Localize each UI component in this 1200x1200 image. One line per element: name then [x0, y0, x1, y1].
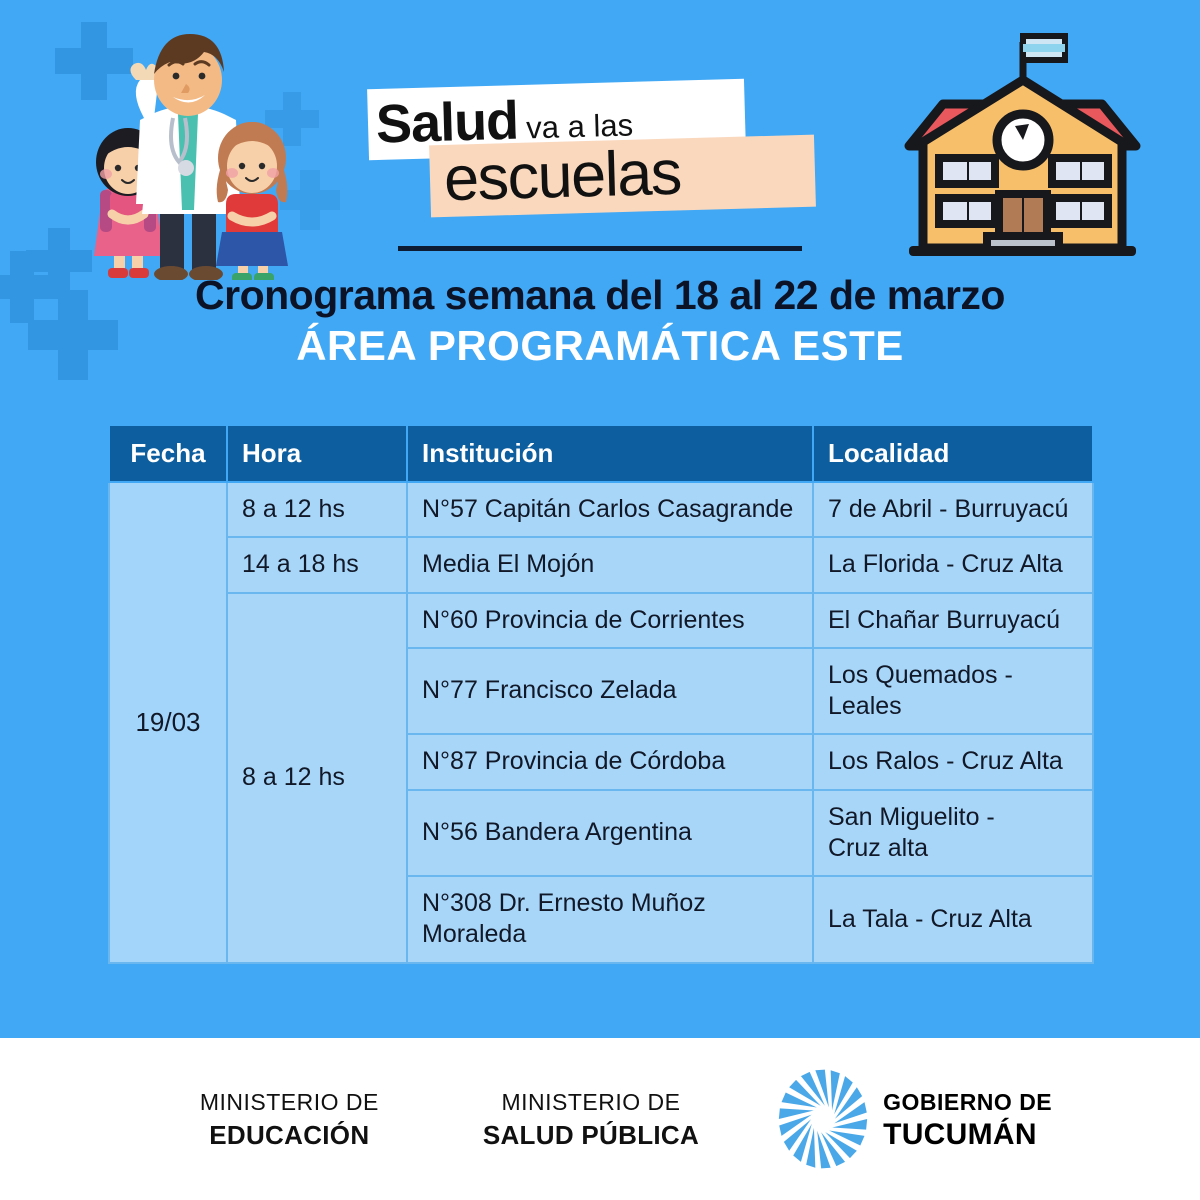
- educacion-top-label: MINISTERIO DE: [200, 1086, 379, 1118]
- logo-ministerio-educacion: MINISTERIO DE EDUCACIÓN: [200, 1086, 379, 1152]
- cell-institucion: N°57 Capitán Carlos Casagrande: [407, 482, 813, 537]
- divider-rule: [398, 246, 802, 251]
- school-building-icon: [895, 22, 1150, 262]
- cell-localidad: Los Ralos - Cruz Alta: [813, 734, 1093, 789]
- cell-institucion: N°77 Francisco Zelada: [407, 648, 813, 735]
- table-row: 14 a 18 hsMedia El MojónLa Florida - Cru…: [109, 537, 1093, 592]
- table-row: 19/038 a 12 hsN°57 Capitán Carlos Casagr…: [109, 482, 1093, 537]
- column-header-fecha: Fecha: [109, 425, 227, 482]
- cell-localidad: La Florida - Cruz Alta: [813, 537, 1093, 592]
- brand-logo: Salud va a las escuelas: [368, 78, 828, 238]
- cell-institucion: N°87 Provincia de Córdoba: [407, 734, 813, 789]
- schedule-table-body: 19/038 a 12 hsN°57 Capitán Carlos Casagr…: [109, 482, 1093, 963]
- educacion-bottom-label: EDUCACIÓN: [200, 1118, 379, 1152]
- cell-hora: 8 a 12 hs: [227, 593, 407, 963]
- cell-localidad: El Chañar Burruyacú: [813, 593, 1093, 648]
- cell-fecha: 19/03: [109, 482, 227, 963]
- cell-institucion: Media El Mojón: [407, 537, 813, 592]
- gobierno-bottom-label: TUCUMÁN: [883, 1118, 1052, 1152]
- salud-bottom-label: SALUD PÚBLICA: [483, 1118, 699, 1152]
- salud-top-label: MINISTERIO DE: [483, 1086, 699, 1118]
- cell-localidad: Los Quemados - Leales: [813, 648, 1093, 735]
- page-subtitle: Cronograma semana del 18 al 22 de marzo: [0, 272, 1200, 319]
- cell-institucion: N°56 Bandera Argentina: [407, 790, 813, 877]
- cell-localidad: 7 de Abril - Burruyacú: [813, 482, 1093, 537]
- logo-ministerio-salud: MINISTERIO DE SALUD PÚBLICA: [483, 1086, 699, 1152]
- gobierno-top-label: GOBIERNO DE: [883, 1086, 1052, 1118]
- logo-gobierno-tucuman: GOBIERNO DE TUCUMÁN: [777, 1067, 1052, 1171]
- table-row: 8 a 12 hsN°60 Provincia de CorrientesEl …: [109, 593, 1093, 648]
- cell-localidad: San Miguelito -Cruz alta: [813, 790, 1093, 877]
- column-header-institucion: Institución: [407, 425, 813, 482]
- poster-root: Salud va a las escuelas: [0, 0, 1200, 1200]
- hero-section: Salud va a las escuelas: [0, 0, 1200, 1038]
- cell-institucion: N°308 Dr. Ernesto MuñozMoraleda: [407, 876, 813, 963]
- footer-logos: MINISTERIO DE EDUCACIÓN MINISTERIO DE SA…: [0, 1038, 1200, 1200]
- schedule-table-wrapper: Fecha Hora Institución Localidad 19/038 …: [108, 424, 1092, 964]
- doctor-with-two-children-illustration: [40, 18, 340, 280]
- page-title: ÁREA PROGRAMÁTICA ESTE: [0, 322, 1200, 370]
- table-header-row: Fecha Hora Institución Localidad: [109, 425, 1093, 482]
- cell-hora: 14 a 18 hs: [227, 537, 407, 592]
- logo-escuelas-text: escuelas: [443, 133, 825, 216]
- cell-institucion: N°60 Provincia de Corrientes: [407, 593, 813, 648]
- schedule-table: Fecha Hora Institución Localidad 19/038 …: [108, 424, 1094, 964]
- column-header-localidad: Localidad: [813, 425, 1093, 482]
- column-header-hora: Hora: [227, 425, 407, 482]
- tucuman-pinwheel-logo: [777, 1067, 869, 1171]
- cell-hora: 8 a 12 hs: [227, 482, 407, 537]
- cell-localidad: La Tala - Cruz Alta: [813, 876, 1093, 963]
